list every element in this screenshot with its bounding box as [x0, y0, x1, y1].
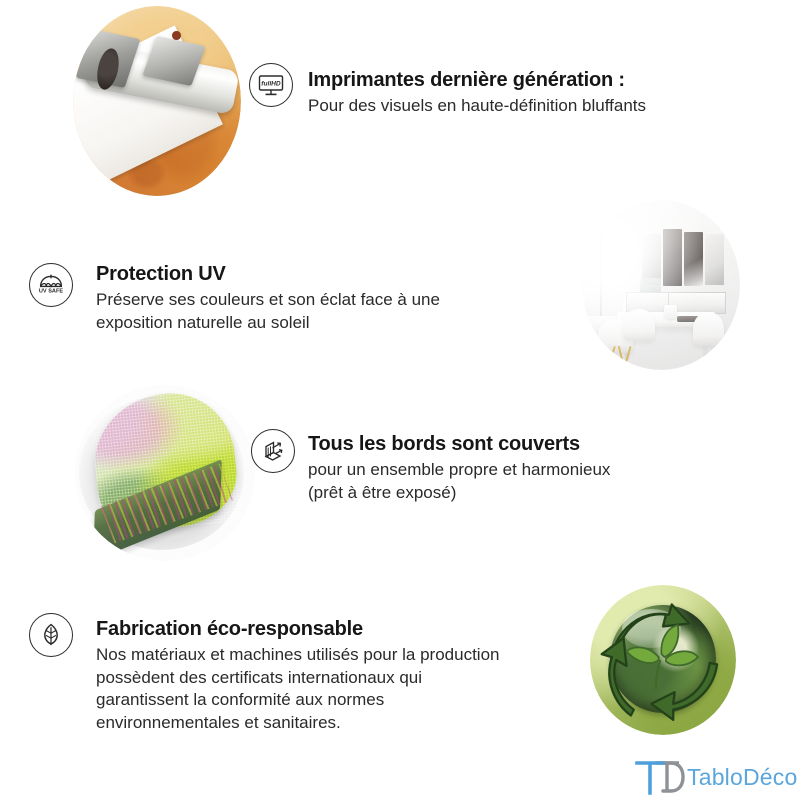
feature-text-printers: Imprimantes dernière génération : Pour d… [308, 68, 646, 118]
feature-body-line: exposition naturelle au soleil [96, 312, 440, 335]
green-earth-recycling-globe-photo [590, 585, 736, 735]
brand-logo[interactable]: TabloDéco ™ .fr [633, 757, 793, 797]
feature-text-eco-manufacturing: Fabrication éco-responsable Nos matériau… [96, 617, 499, 734]
feature-body-line: Nos matériaux et machines utilisés pour … [96, 644, 499, 667]
feature-body-line: (prêt à être exposé) [308, 482, 610, 505]
feature-body-uv-protection: Préserve ses couleurs et son éclat face … [96, 289, 440, 334]
svg-text:fullHD: fullHD [261, 80, 281, 87]
svg-text:UV SAFE: UV SAFE [39, 289, 64, 295]
feature-body-line: pour un ensemble propre et harmonieux [308, 459, 610, 482]
feature-body-covered-edges: pour un ensemble propre et harmonieux (p… [308, 459, 610, 504]
feature-body-eco-manufacturing: Nos matériaux et machines utilisés pour … [96, 644, 499, 734]
feature-body-line: Pour des visuels en haute-définition blu… [308, 95, 646, 118]
leaf-icon [29, 613, 73, 657]
feature-body-line: Préserve ses couleurs et son éclat face … [96, 289, 440, 312]
feature-body-line: environnementales et sanitaires. [96, 712, 499, 735]
feature-body-printers: Pour des visuels en haute-définition blu… [308, 95, 646, 118]
brand-wordmark-text: TabloDéco [687, 764, 797, 790]
feature-title-covered-edges: Tous les bords sont couverts [308, 432, 610, 456]
fullhd-monitor-icon: fullHD [249, 63, 293, 107]
feature-title-uv-protection: Protection UV [96, 262, 440, 286]
feature-title-printers: Imprimantes dernière génération : [308, 68, 646, 92]
leaf-sprout-icon [590, 585, 736, 735]
canvas-corner-abstract-print-photo [75, 385, 255, 561]
infographic-canvas: fullHD Imprimantes dernière génération :… [0, 0, 800, 800]
feature-body-line: possèdent des certificats internationaux… [96, 667, 499, 690]
feature-text-covered-edges: Tous les bords sont couverts pour un ens… [308, 432, 610, 504]
printer-roller-world-map-photo [73, 6, 241, 196]
brand-wordmark: TabloDéco ™ [687, 764, 797, 791]
uv-safe-umbrella-icon: UV SAFE [29, 263, 73, 307]
bright-dining-room-canvas-art-photo [582, 200, 740, 370]
sunlight-glow [582, 200, 740, 370]
feature-title-eco-manufacturing: Fabrication éco-responsable [96, 617, 499, 641]
printer-knob [172, 31, 180, 41]
feature-text-uv-protection: Protection UV Préserve ses couleurs et s… [96, 262, 440, 334]
feature-body-line: garantissent la conformité aux normes [96, 689, 499, 712]
wrapped-edge-icon [251, 429, 295, 473]
brand-monogram-icon [633, 757, 685, 797]
